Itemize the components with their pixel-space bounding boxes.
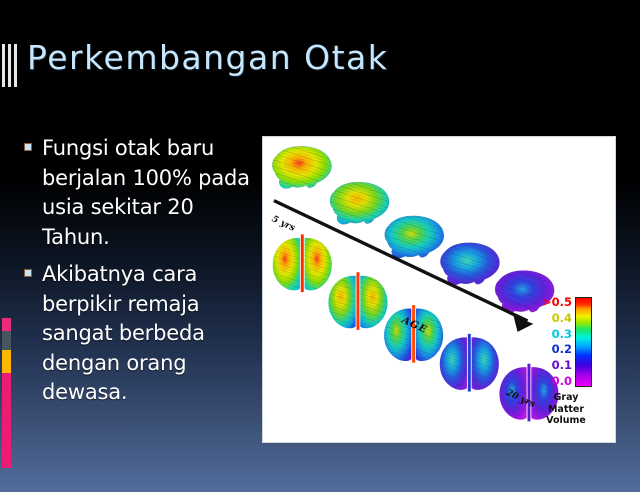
list-item: Akibatnya cara berpikir remaja sangat be… <box>24 260 256 408</box>
title-deco-bar-3 <box>14 44 17 87</box>
legend-tick-2: 0.3 <box>552 329 572 340</box>
bullet-list: Fungsi otak baru berjalan 100% pada usia… <box>24 134 256 416</box>
legend-tick-labels: >0.5 0.4 0.3 0.2 0.1 0.0 <box>537 297 575 387</box>
legend-scale: >0.5 0.4 0.3 0.2 0.1 0.0 <box>537 297 609 387</box>
legend-tick-5: 0.0 <box>552 376 572 387</box>
bullet-text-2: Akibatnya cara berpikir remaja sangat be… <box>42 260 256 408</box>
side-strip-segment-pink-top <box>2 318 11 331</box>
gray-matter-legend: >0.5 0.4 0.3 0.2 0.1 0.0 Gray Matter Vol… <box>537 297 609 437</box>
square-bullet-icon <box>24 143 32 151</box>
side-strip-segment-amber <box>2 350 11 373</box>
square-bullet-icon <box>24 269 32 277</box>
list-item: Fungsi otak baru berjalan 100% pada usia… <box>24 134 256 252</box>
side-color-strip <box>2 318 11 468</box>
side-strip-segment-teal <box>2 331 11 350</box>
legend-tick-3: 0.2 <box>552 344 572 355</box>
title-deco-bar-1 <box>2 44 5 87</box>
legend-tick-1: 0.4 <box>552 313 572 324</box>
title-deco-bar-2 <box>8 44 11 87</box>
legend-caption-line-1: Gray <box>537 392 595 404</box>
page-title: Perkembangan Otak <box>27 38 388 77</box>
legend-tick-0: >0.5 <box>542 297 572 308</box>
bullet-text-1: Fungsi otak baru berjalan 100% pada usia… <box>42 134 256 252</box>
slide-canvas: Perkembangan Otak Fungsi otak baru berja… <box>0 0 640 492</box>
brain-figure-panel: 5 yrs AGE 20 yrs >0.5 0.4 0.3 0.2 0.1 0.… <box>262 136 616 443</box>
legend-caption-line-2: Matter <box>537 404 595 416</box>
legend-caption-line-3: Volume <box>537 415 595 427</box>
side-strip-segment-pink-bottom <box>2 373 11 468</box>
legend-caption: Gray Matter Volume <box>537 392 595 427</box>
legend-tick-4: 0.1 <box>552 360 572 371</box>
legend-colorbar <box>575 297 592 387</box>
title-decoration-bars <box>0 44 22 87</box>
